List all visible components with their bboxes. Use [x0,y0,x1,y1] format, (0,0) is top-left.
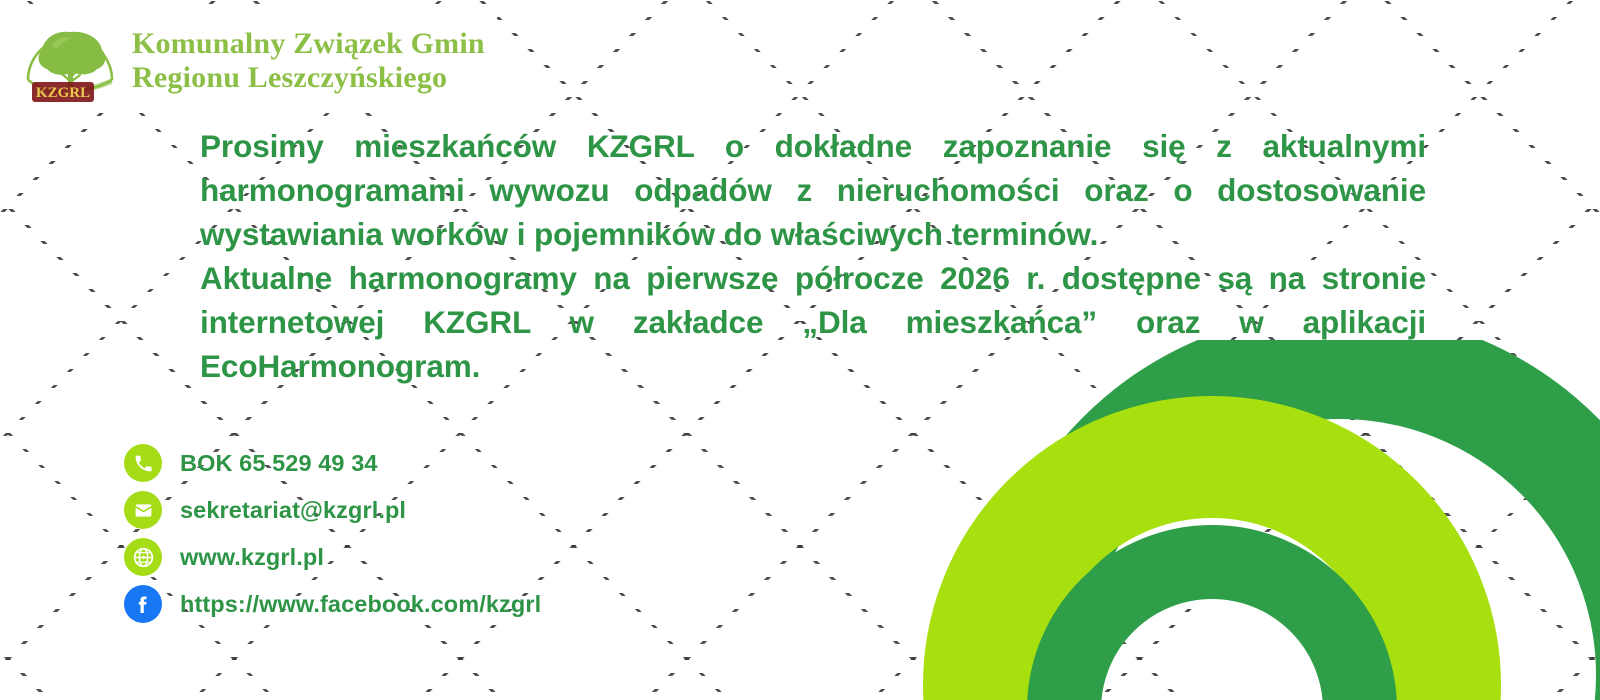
announcement-paragraph-1: Prosimy mieszkańców KZGRL o dokładne zap… [200,124,1426,256]
contact-row-email[interactable]: sekretariat@kzgrl.pl [124,491,541,529]
contact-row-phone[interactable]: BOK 65 529 49 34 [124,444,541,482]
phone-icon [124,444,162,482]
contact-list: BOK 65 529 49 34 sekretariat@kzgrl.pl [124,444,541,623]
announcement-text: Prosimy mieszkańców KZGRL o dokładne zap… [200,124,1426,388]
globe-icon [124,538,162,576]
facebook-icon [124,585,162,623]
kzgrl-tree-emblem: KZGRL [22,18,118,104]
poster-canvas: KZGRL Komunalny Związek Gmin Regionu Les… [0,0,1600,700]
contact-value-website: www.kzgrl.pl [180,544,324,571]
contact-row-facebook[interactable]: https://www.facebook.com/kzgrl [124,585,541,623]
announcement-paragraph-2: Aktualne harmonogramy na pierwsze półroc… [200,256,1426,388]
logo-mark-caption: KZGRL [36,85,90,101]
contact-value-phone: BOK 65 529 49 34 [180,450,378,477]
contact-value-email: sekretariat@kzgrl.pl [180,497,406,524]
envelope-icon [124,491,162,529]
logo-title-line-2: Regionu Leszczyńskiego [132,61,485,95]
logo-title: Komunalny Związek Gmin Regionu Leszczyńs… [132,27,485,94]
logo-block: KZGRL Komunalny Związek Gmin Regionu Les… [18,14,497,108]
contact-value-facebook: https://www.facebook.com/kzgrl [180,591,541,618]
contact-row-website[interactable]: www.kzgrl.pl [124,538,541,576]
logo-title-line-1: Komunalny Związek Gmin [132,27,485,60]
